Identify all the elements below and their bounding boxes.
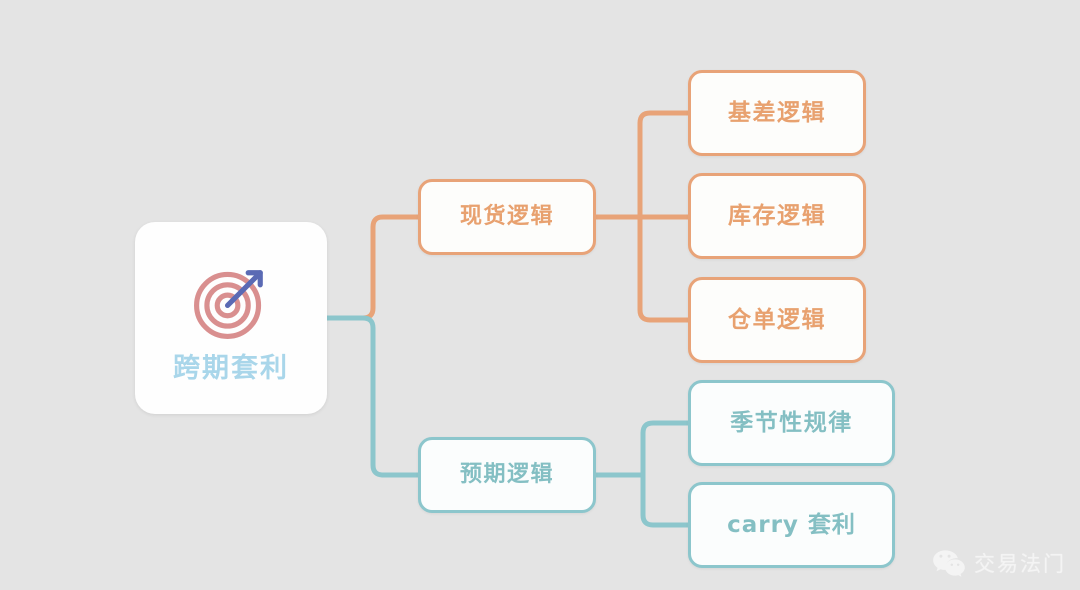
link-spine-to-seasonality xyxy=(643,423,688,475)
leaf-node-carry-arb[interactable]: carry 套利 xyxy=(688,482,895,568)
link-spine-to-carry-arb xyxy=(643,475,688,525)
leaf-node-label: 库存逻辑 xyxy=(728,205,826,228)
branch-node-spot-logic[interactable]: 现货逻辑 xyxy=(418,179,596,255)
branch-node-expect-logic[interactable]: 预期逻辑 xyxy=(418,437,596,513)
watermark: 交易法门 xyxy=(932,548,1066,578)
branch-node-label: 预期逻辑 xyxy=(460,464,554,486)
root-node[interactable]: 跨期套利 xyxy=(135,222,327,414)
leaf-node-basis-logic[interactable]: 基差逻辑 xyxy=(688,70,866,156)
leaf-node-inventory-logic[interactable]: 库存逻辑 xyxy=(688,173,866,259)
wechat-icon xyxy=(932,548,966,578)
link-root-to-expect-logic xyxy=(327,318,418,475)
target-arrow-icon xyxy=(188,259,274,345)
leaf-node-label: 基差逻辑 xyxy=(728,102,826,125)
mindmap-canvas: 跨期套利 现货逻辑 预期逻辑 基差逻辑 库存逻辑 仓单逻辑 季节性规律 carr… xyxy=(0,0,1080,590)
leaf-node-label: 仓单逻辑 xyxy=(728,309,826,332)
link-spine-to-warrant-logic xyxy=(640,217,688,320)
watermark-text: 交易法门 xyxy=(974,548,1066,578)
leaf-node-label: carry 套利 xyxy=(727,514,856,537)
leaf-node-label: 季节性规律 xyxy=(730,412,853,435)
root-node-label: 跨期套利 xyxy=(173,355,289,382)
leaf-node-warrant-logic[interactable]: 仓单逻辑 xyxy=(688,277,866,363)
leaf-node-seasonality[interactable]: 季节性规律 xyxy=(688,380,895,466)
link-spine-to-basis-logic xyxy=(640,113,688,217)
branch-node-label: 现货逻辑 xyxy=(460,206,554,228)
link-root-to-spot-logic xyxy=(327,217,418,318)
